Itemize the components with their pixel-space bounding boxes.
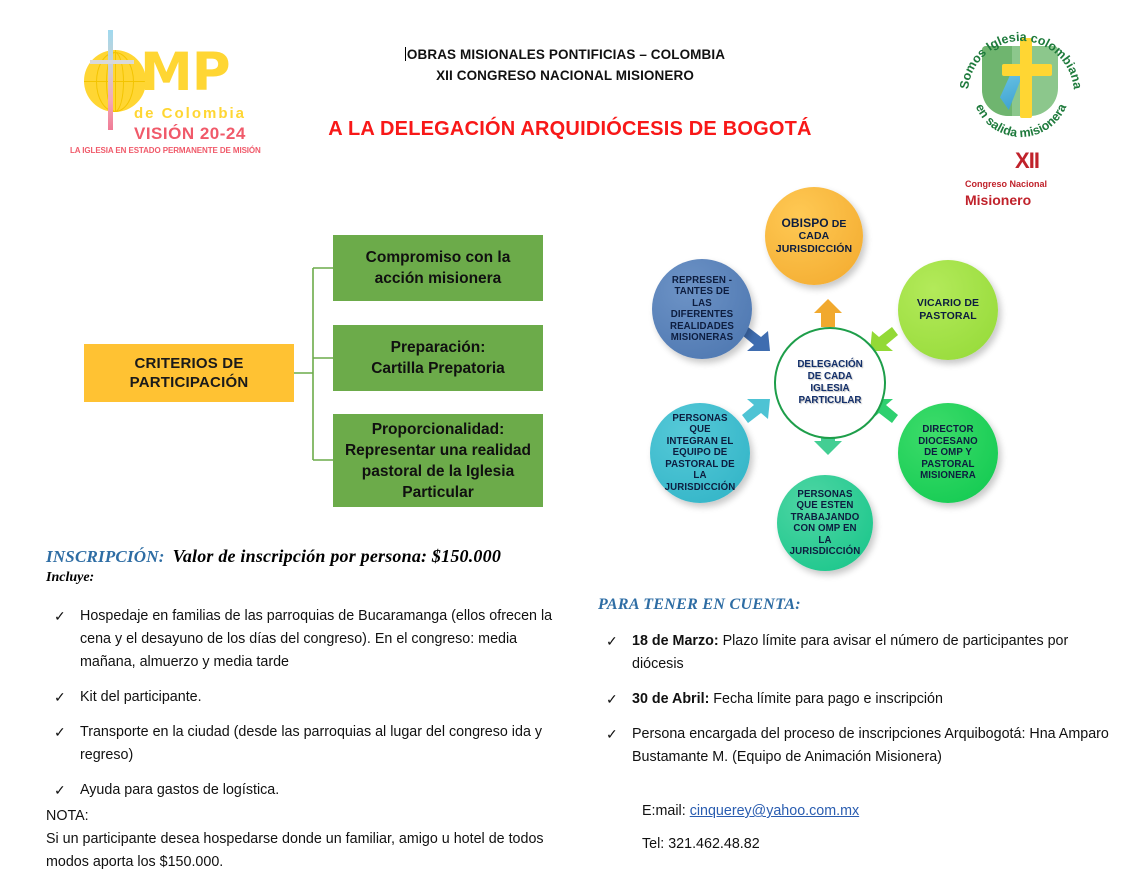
cuenta-items-list: ✓18 de Marzo: Plazo límite para avisar e…	[598, 630, 1118, 781]
wheel-node-obispo: OBISPO DECADAJURISDICCIÓN	[765, 187, 863, 285]
list-item: ✓Ayuda para gastos de logística.	[46, 779, 566, 802]
list-item: ✓18 de Marzo: Plazo límite para avisar e…	[598, 630, 1118, 676]
arrow-downleft-icon	[740, 393, 774, 425]
nota-label: NOTA:	[46, 805, 566, 828]
header-line-2: XII CONGRESO NACIONAL MISIONERO	[300, 65, 830, 86]
header-org-lines: OBRAS MISIONALES PONTIFICIAS – COLOMBIA …	[300, 44, 830, 86]
omp-logo-tagline: LA IGLESIA EN ESTADO PERMANENTE DE MISIÓ…	[70, 146, 261, 155]
nota-block: NOTA: Si un participante desea hospedars…	[46, 805, 566, 874]
wheel-node-representantes: REPRESEN -TANTES DELASDIFERENTESREALIDAD…	[652, 259, 752, 359]
contact-email-line: E:mail: cinquerey@yahoo.com.mx	[598, 795, 1118, 828]
check-icon: ✓	[606, 630, 618, 653]
inscripcion-value: Valor de inscripción por persona: $150.0…	[173, 546, 501, 566]
list-item: ✓Persona encargada del proceso de inscri…	[598, 723, 1118, 769]
contact-block: E:mail: cinquerey@yahoo.com.mx Tel: 321.…	[598, 795, 1118, 861]
header-line-1-text: OBRAS MISIONALES PONTIFICIAS – COLOMBIA	[407, 47, 725, 62]
list-item: ✓30 de Abril: Fecha límite para pago e i…	[598, 688, 1118, 711]
criteria-item-1: Compromiso con la acción misionera	[333, 235, 543, 301]
page-title: A LA DELEGACIÓN ARQUIDIÓCESIS DE BOGOTÁ	[250, 118, 890, 141]
list-item: ✓Kit del participante.	[46, 686, 566, 709]
omp-colombia-logo: MP de Colombia VISIÓN 20-24 LA IGLESIA E…	[62, 22, 312, 162]
wheel-node-director: DIRECTORDIOCESANODE OMP YPASTORALMISIONE…	[898, 403, 998, 503]
header-line-1: OBRAS MISIONALES PONTIFICIAS – COLOMBIA	[300, 44, 830, 65]
criteria-item-3: Proporcionalidad: Representar una realid…	[333, 414, 543, 507]
check-icon: ✓	[54, 686, 66, 709]
inscripcion-heading: INSCRIPCIÓN:Valor de inscripción por per…	[46, 546, 501, 567]
wheel-node-personas-trabajando: PERSONASQUE ESTENTRABAJANDOCON OMP ENLAJ…	[777, 475, 873, 571]
svg-text:Somos Iglesia colombiana: Somos Iglesia colombiana	[960, 30, 1082, 91]
incluye-label: Incluye:	[46, 570, 94, 586]
inscripcion-includes-list: ✓Hospedaje en familias de las parroquias…	[46, 605, 566, 814]
cross-icon	[108, 30, 113, 130]
list-item: ✓Hospedaje en familias de las parroquias…	[46, 605, 566, 674]
nota-text: Si un participante desea hospedarse dond…	[46, 828, 566, 874]
xii-congreso-logo: Somos Iglesia colombiana en salida misio…	[948, 22, 1118, 182]
svg-text:en salida misionera: en salida misionera	[973, 101, 1070, 141]
criteria-item-2: Preparación:Cartilla Prepatoria	[333, 325, 543, 391]
check-icon: ✓	[54, 721, 66, 744]
delegation-wheel-diagram: OBISPO DECADAJURISDICCIÓN VICARIO DEPAST…	[630, 175, 1030, 595]
check-icon: ✓	[606, 688, 618, 711]
logo-numeral: XII	[1015, 148, 1039, 174]
inscripcion-label: INSCRIPCIÓN:	[46, 547, 165, 566]
check-icon: ✓	[54, 779, 66, 802]
cuenta-heading: PARA TENER EN CUENTA:	[598, 596, 801, 614]
wheel-node-vicario: VICARIO DEPASTORAL	[898, 260, 998, 360]
text-cursor	[405, 47, 406, 61]
wheel-center-node: DELEGACIÓNDE CADAIGLESIAPARTICULAR	[774, 327, 886, 439]
contact-tel-line: Tel: 321.462.48.82	[598, 828, 1118, 861]
criteria-diagram: CRITERIOS DE PARTICIPACIÓN Compromiso co…	[70, 225, 570, 530]
cross-bar-icon	[90, 60, 134, 64]
omp-logo-vision: VISIÓN 20-24	[134, 124, 246, 144]
omp-logo-subtitle: de Colombia	[134, 105, 246, 122]
email-link[interactable]: cinquerey@yahoo.com.mx	[690, 803, 859, 819]
check-icon: ✓	[54, 605, 66, 628]
check-icon: ✓	[606, 723, 618, 746]
logo-arc-text: Somos Iglesia colombiana en salida misio…	[960, 24, 1082, 146]
wheel-node-personas-integran: PERSONASQUEINTEGRAN ELEQUIPO DEPASTORAL …	[650, 403, 750, 503]
omp-logo-mp: MP	[140, 46, 230, 99]
arrow-up-icon	[811, 297, 845, 329]
criteria-root-box: CRITERIOS DE PARTICIPACIÓN	[84, 344, 294, 402]
email-label: E:mail:	[642, 803, 686, 819]
poster-page: MP de Colombia VISIÓN 20-24 LA IGLESIA E…	[0, 0, 1127, 881]
list-item: ✓Transporte en la ciudad (desde las parr…	[46, 721, 566, 767]
